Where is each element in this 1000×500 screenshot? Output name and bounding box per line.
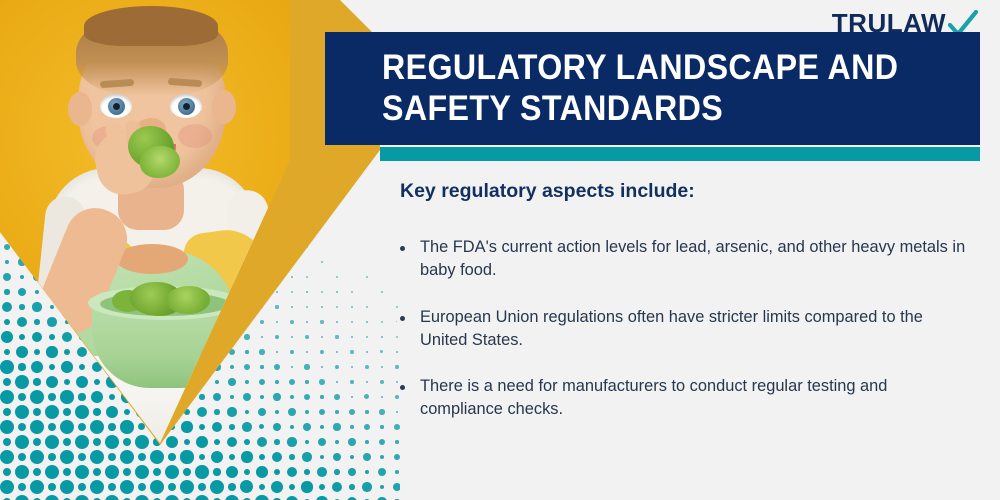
list-item-text: European Union regulations often have st…	[420, 306, 972, 353]
bullet-list: The FDA's current action levels for lead…	[400, 236, 972, 445]
list-item: The FDA's current action levels for lead…	[400, 236, 972, 283]
bullet-point-icon	[400, 246, 405, 251]
page-title: REGULATORY LANDSCAPE AND SAFETY STANDARD…	[325, 48, 898, 129]
bullet-point-icon	[400, 385, 405, 390]
bullet-point-icon	[400, 316, 405, 321]
list-item: There is a need for manufacturers to con…	[400, 375, 972, 422]
title-banner: REGULATORY LANDSCAPE AND SAFETY STANDARD…	[325, 32, 980, 145]
list-item-text: The FDA's current action levels for lead…	[420, 236, 972, 283]
subheading: Key regulatory aspects include:	[400, 180, 695, 203]
infographic-canvas: TRULAW REGULATORY LANDSCAPE AND SAFETY S…	[0, 0, 1000, 500]
list-item-text: There is a need for manufacturers to con…	[420, 375, 972, 422]
teal-accent-bar	[380, 147, 980, 161]
list-item: European Union regulations often have st…	[400, 306, 972, 353]
